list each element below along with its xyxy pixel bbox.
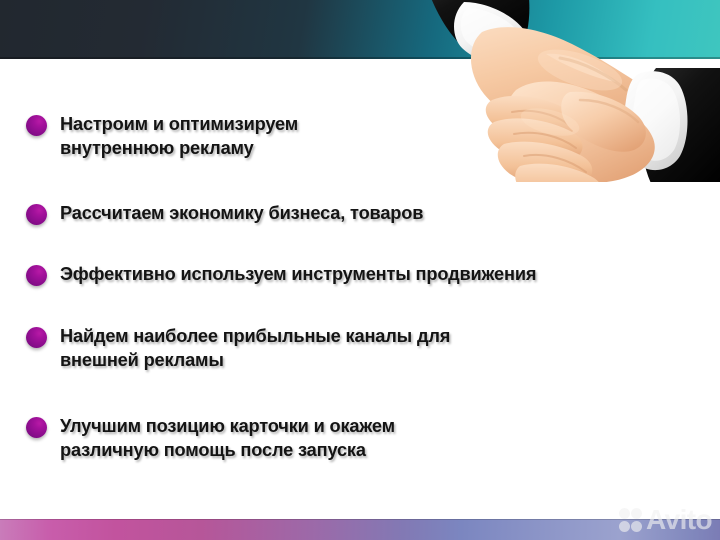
slide-canvas: Настроим и оптимизируем внутреннюю рекла… [0, 0, 720, 540]
list-item-label: Найдем наиболее прибыльные каналы для вн… [60, 324, 450, 372]
bullet-dot-icon [26, 204, 47, 225]
bullet-dot-icon [26, 265, 47, 286]
list-item: Эффективно используем инструменты продви… [26, 262, 536, 286]
list-item: Найдем наиболее прибыльные каналы для вн… [26, 324, 450, 372]
top-gradient-band [0, 0, 720, 59]
list-item-label: Эффективно используем инструменты продви… [60, 262, 536, 286]
bottom-gradient-band [0, 519, 720, 540]
bullet-list: Настроим и оптимизируем внутреннюю рекла… [0, 59, 720, 519]
list-item: Настроим и оптимизируем внутреннюю рекла… [26, 112, 298, 160]
bullet-dot-icon [26, 115, 47, 136]
list-item: Улучшим позицию карточки и окажем различ… [26, 414, 395, 462]
bullet-dot-icon [26, 417, 47, 438]
list-item-label: Рассчитаем экономику бизнеса, товаров [60, 201, 423, 225]
list-item: Рассчитаем экономику бизнеса, товаров [26, 201, 423, 225]
list-item-label: Улучшим позицию карточки и окажем различ… [60, 414, 395, 462]
bullet-dot-icon [26, 327, 47, 348]
list-item-label: Настроим и оптимизируем внутреннюю рекла… [60, 112, 298, 160]
